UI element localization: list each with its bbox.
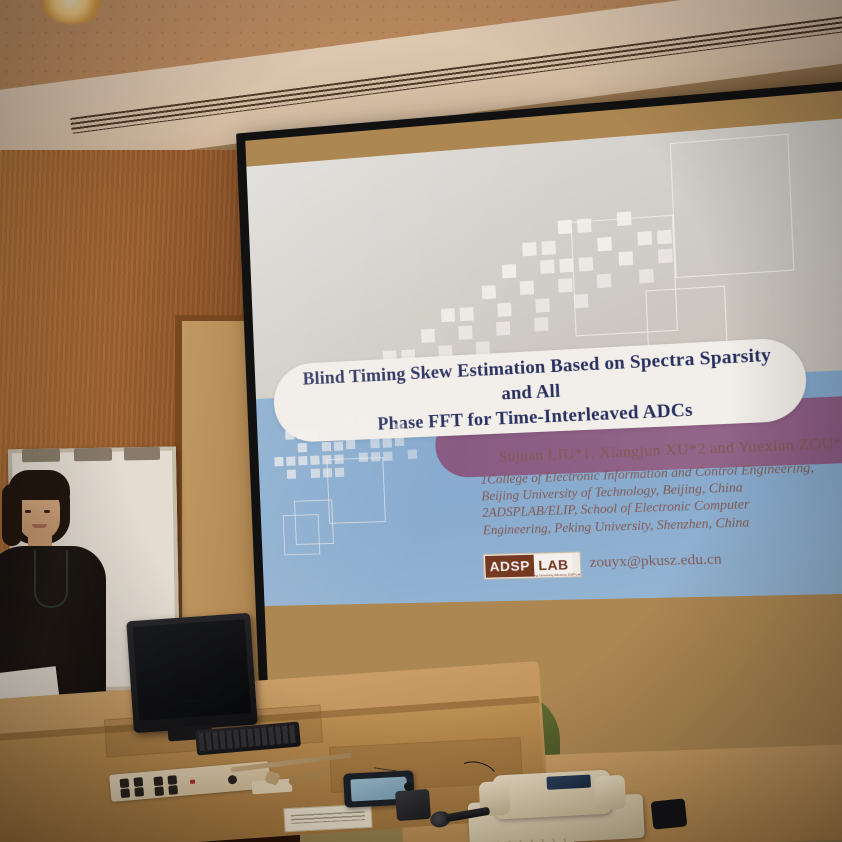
flipchart-clip — [124, 447, 160, 461]
presenter-eye — [44, 510, 50, 513]
flipchart-clip — [74, 448, 112, 462]
projection-screen: Blind Timing Skew Estimation Based on Sp… — [245, 87, 842, 755]
adsp-lab-logo: ADSP LAB Shenzhen Graduate School Peking… — [483, 551, 582, 579]
phone-power-brick — [651, 798, 688, 829]
presenter-mouth — [32, 524, 47, 528]
presenter-hair-side — [2, 484, 22, 546]
phone-keypad[interactable] — [478, 837, 575, 842]
lavalier-microphone — [404, 782, 413, 791]
presenter-eye — [25, 510, 31, 513]
screen-surface: Blind Timing Skew Estimation Based on Sp… — [245, 87, 842, 755]
keyboard-keys[interactable] — [198, 725, 297, 751]
flipchart-clip — [22, 449, 60, 463]
slide-author-block: Sujuan LIU*1, Xiangjun XU*2 and Yuexian … — [467, 433, 842, 539]
cable — [168, 700, 216, 732]
presenter-lanyard — [34, 550, 68, 608]
slide-email: zouyx@pkusz.edu.cn — [589, 552, 722, 572]
phone-handset[interactable] — [492, 769, 612, 819]
phone-display — [546, 775, 591, 790]
desk-nameplate — [283, 804, 372, 833]
logo-tagline: Shenzhen Graduate School Peking Universi… — [487, 572, 581, 578]
photo-scene: Blind Timing Skew Estimation Based on Sp… — [0, 0, 842, 842]
projected-slide: Blind Timing Skew Estimation Based on Sp… — [246, 116, 842, 606]
nameplate-text-lines — [291, 811, 365, 824]
wireless-beltpack-transmitter[interactable] — [395, 789, 431, 821]
slide-affiliations: 1College of Electronic Information and C… — [468, 456, 842, 539]
